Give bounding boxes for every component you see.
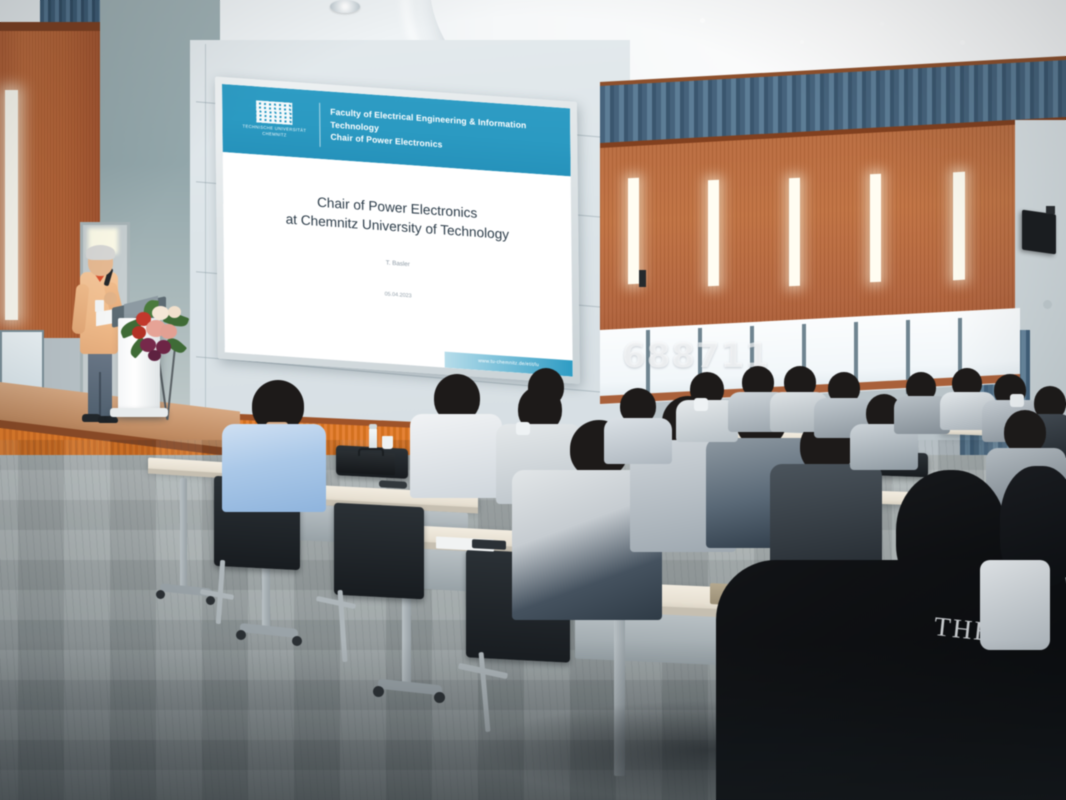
logo-caption-line2: CHEMNITZ (262, 131, 286, 138)
pinlight-1 (700, 18, 705, 23)
logo-caption: TECHNISCHE UNIVERSITÄT CHEMNITZ (236, 123, 312, 140)
presenter-shoe-right (98, 416, 118, 423)
pinlight-4 (960, 40, 965, 45)
projection-screen-assembly: TECHNISCHE UNIVERSITÄT CHEMNITZ Faculty … (222, 84, 573, 377)
header-divider (319, 103, 320, 147)
pinlight-2 (800, 40, 804, 44)
light-strip-1 (628, 178, 639, 285)
lecture-hall-photo: 688711 TECHNISCHE UNIVERSITÄT CHEMNITZ F… (0, 0, 1066, 800)
loudspeaker (1022, 210, 1056, 255)
wall-sconce-box (639, 270, 646, 287)
lectern-base (110, 408, 168, 417)
flower-maroon-3 (148, 350, 161, 361)
flower-pink-2 (160, 324, 177, 339)
person-fg2-shirt (980, 560, 1050, 650)
face-mask-1 (694, 398, 708, 411)
projection-screen: TECHNISCHE UNIVERSITÄT CHEMNITZ Faculty … (222, 84, 573, 377)
pinlight-3 (880, 22, 884, 26)
tu-chemnitz-logo: TECHNISCHE UNIVERSITÄT CHEMNITZ (236, 99, 312, 144)
caster-3 (236, 630, 246, 640)
person-b1-body (410, 414, 502, 498)
presenter-hand (104, 292, 117, 305)
flower-arrangement (120, 298, 186, 364)
downlight-1 (330, 0, 360, 13)
slide-author: T. Basler (224, 248, 572, 279)
bottle-cap (369, 424, 377, 429)
face-mask-3 (516, 422, 530, 435)
wood-cap-left (0, 22, 110, 31)
person-a1-body (222, 424, 326, 512)
chair-3[interactable] (334, 503, 424, 600)
cup (382, 436, 393, 449)
slide-body: Chair of Power Electronics at Chemnitz U… (223, 152, 573, 377)
smartphone-1 (472, 539, 506, 550)
slide-header-text: Faculty of Electrical Engineering & Info… (330, 106, 562, 160)
laptop-handle (358, 448, 384, 456)
caster-1 (156, 590, 165, 599)
face-mask-2 (1010, 394, 1024, 407)
light-strip-5 (953, 172, 965, 281)
flower-red-2 (132, 326, 146, 339)
presenter-leg-split (99, 372, 101, 420)
speaker-mount (1046, 206, 1055, 214)
light-strip-2 (708, 180, 719, 287)
person-b3-head (528, 368, 564, 406)
light-strip-4 (870, 174, 881, 283)
slide-title: Chair of Power Electronics at Chemnitz U… (223, 186, 571, 248)
water-bottle (369, 428, 377, 450)
caster-2 (206, 596, 215, 605)
table-row1-left-leg (180, 478, 187, 588)
slide-date: 05.04.2023 (224, 280, 572, 310)
light-strip-left (5, 90, 18, 320)
flower-cream-2 (168, 306, 181, 318)
presenter-hair (86, 245, 115, 260)
remote-control (379, 480, 407, 488)
wall-seam-v1 (205, 44, 206, 454)
person-d1-body (604, 418, 672, 464)
flower-cream-1 (152, 306, 169, 320)
university-building-icon (256, 100, 292, 125)
floor-shading (0, 640, 1066, 800)
wall-outlet-right (1043, 300, 1052, 309)
light-strip-3 (789, 178, 800, 287)
